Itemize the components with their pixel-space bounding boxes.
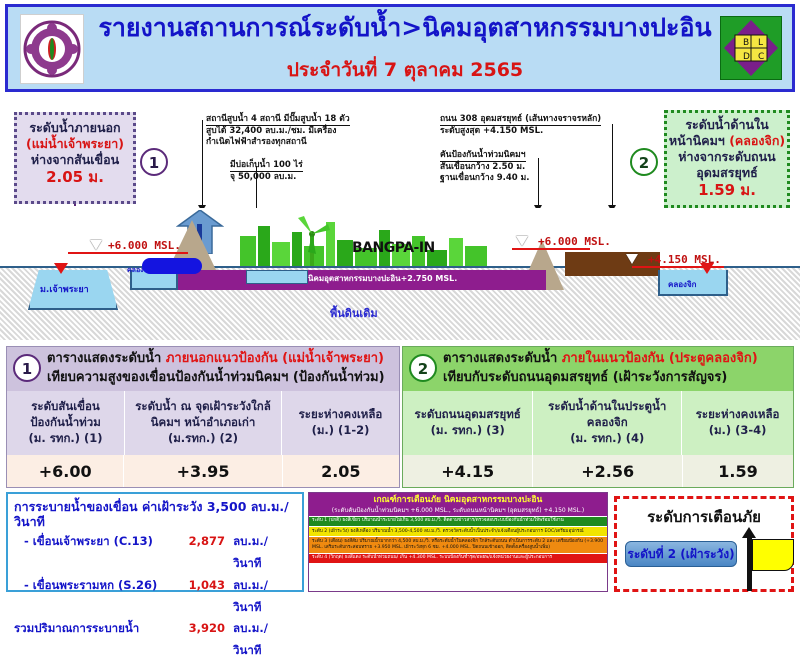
criteria-level-2-text: ปริมาณน้ำ 3,500-4,500 ลบ.ม./วิ. ตรวจวัดร… xyxy=(372,529,584,534)
discharge-row: - เขื่อนพระรามหก (S.26) 1,043 ลบ.ม./วินา… xyxy=(14,575,296,619)
dam-discharge-panel: การระบายน้ำของเขื่อน ค่าเฝ้าระวัง 3,500 … xyxy=(6,492,304,592)
svg-text:C: C xyxy=(758,52,764,62)
report-date: ประจำวันที่ 7 ตุลาคม 2565 xyxy=(80,55,730,85)
note-road-leader xyxy=(612,124,613,208)
table-right-header: 2 ตารางแสดงระดับน้ำ ภายในแนวป้องกัน (ประ… xyxy=(403,347,793,391)
callout-external-water-level: ระดับน้ำภายนอก (แม่น้ำเจ้าพระยา) ห่างจาก… xyxy=(14,112,136,204)
table-external-water-level: 1 ตารางแสดงระดับน้ำ ภายนอกแนวป้องกัน (แม… xyxy=(6,346,400,488)
report-header: รายงานสถานการณ์ระดับน้ำ>นิคมอุตสาหกรรมบา… xyxy=(5,4,795,92)
industrial-estate-authority-logo xyxy=(20,14,84,84)
table-right-col-1: ระดับน้ำด้านในประตูน้ำ คลองจิก (ม. รทก.)… xyxy=(533,391,682,455)
table-left-head-line1: ตารางแสดงระดับน้ำ ภายนอกแนวป้องกัน (แม่น… xyxy=(47,350,395,369)
alert-title: ระดับการเตือนภัย xyxy=(617,505,791,529)
bldc-logo: B L D C xyxy=(720,16,782,80)
marker-badge-1: 1 xyxy=(140,148,168,176)
table-left-head-a: ตารางแสดงระดับน้ำ xyxy=(47,351,166,366)
callout-left-line2: (แม่น้ำเจ้าพระยา) xyxy=(17,136,133,152)
callout-right-value: 1.59 ม. xyxy=(667,181,787,200)
road-308-graphic xyxy=(565,252,660,276)
discharge-total-label: รวมปริมาณการระบายน้ำ xyxy=(14,618,173,662)
note-pond-l1: มีบ่อเก็บน้ำ 100 ไร่ xyxy=(230,160,303,172)
note-road-l2: ระดับสูงสุด +4.150 MSL. xyxy=(440,126,601,137)
criteria-level-3-status: ธงสีส้ม xyxy=(344,539,358,544)
callout-right-line2a: หน้านิคมฯ xyxy=(669,133,729,148)
table-right-head-accent: ภายในแนวป้องกัน (ประตูคลองจิก) xyxy=(562,351,758,366)
table-left-header: 1 ตารางแสดงระดับน้ำ ภายนอกแนวป้องกัน (แม… xyxy=(7,347,399,391)
table-right-value-row: +4.15 +2.56 1.59 xyxy=(403,455,793,488)
river-label: ม.เจ้าพระยา xyxy=(40,282,89,296)
table-left-val-0: +6.00 xyxy=(7,455,124,488)
callout-right-line2b: (คลองจิก) xyxy=(729,133,785,148)
table-right-head-line2: เทียบกับระดับถนนอุดมสรยุทธ์ (เฝ้าระวังกา… xyxy=(443,369,789,388)
table-left-val-1: +3.95 xyxy=(124,455,282,488)
flag-pole-tip xyxy=(742,527,756,538)
discharge-row-1-unit: ลบ.ม./วินาที xyxy=(225,575,296,619)
svg-text:L: L xyxy=(758,38,763,48)
original-ground-label: พื้นดินเดิม xyxy=(330,304,378,322)
current-water-level-marker-canal xyxy=(700,263,714,274)
table-left-head-line2: เทียบความสูงของเขื่อนป้องกันน้ำท่วมนิคมฯ… xyxy=(47,369,395,388)
callout-right-line3: ห่างจากระดับถนน xyxy=(667,149,787,165)
marker-badge-2: 2 xyxy=(630,148,658,176)
water-surface-marker-left xyxy=(90,240,102,250)
criteria-level-2: ระดับ 2 (เฝ้าระวัง) ธงสีเหลือง ปริมาณน้ำ… xyxy=(309,526,607,536)
note-retention-pond: มีบ่อเก็บน้ำ 100 ไร่ จุ 50,000 ลบ.ม. xyxy=(230,160,303,183)
svg-text:B: B xyxy=(743,38,749,48)
discharge-total-row: รวมปริมาณการระบายน้ำ 3,920 ลบ.ม./วินาที xyxy=(14,618,296,662)
table-left-column-headers: ระดับสันเขื่อน ป้องกันน้ำท่วม (ม. รทก.) … xyxy=(7,391,399,455)
criteria-level-3-name: ระดับ 3 (เตือน) xyxy=(312,539,343,544)
table-right-val-0: +4.15 xyxy=(403,455,533,488)
culvert-pipe-graphic xyxy=(142,258,202,274)
water-surface-marker-mid xyxy=(516,236,528,246)
discharge-row-0-label: - เขื่อนเจ้าพระยา (C.13) xyxy=(14,531,173,575)
criteria-level-1-name: ระดับ 1 (ปกติ) xyxy=(312,518,341,523)
callout-left-value: 2.05 ม. xyxy=(17,168,133,187)
table-right-column-headers: ระดับถนนอุดมสรยุทธ์ (ม. รทก.) (3) ระดับน… xyxy=(403,391,793,455)
table-right-col-2: ระยะห่างคงเหลือ (ม.) (3-4) xyxy=(682,391,793,455)
estate-brand-label: BANGPA-IN xyxy=(352,240,435,256)
discharge-row-1-value: 1,043 xyxy=(173,575,225,619)
note-dike-l2: สันเขื่อนกว้าง 2.50 ม. xyxy=(440,162,529,173)
alert-level-chip: ระดับที่ 2 (เฝ้าระวัง) xyxy=(625,541,737,567)
current-water-level-marker-river xyxy=(54,263,68,274)
table-left-value-row: +6.00 +3.95 2.05 xyxy=(7,455,399,488)
note-pump-l3: กำเนิดไฟฟ้าสำรองทุกสถานี xyxy=(206,137,350,148)
note-dike-l1: คันป้องกันน้ำท่วมนิคมฯ xyxy=(440,150,526,162)
discharge-row: - เขื่อนเจ้าพระยา (C.13) 2,877 ลบ.ม./วิน… xyxy=(14,531,296,575)
criteria-subtitle: (ระดับคันป้องกันน้ำท่วมนิคมฯ +6.000 MSL.… xyxy=(309,506,607,516)
msl-line-left xyxy=(68,252,188,254)
discharge-row-0-unit: ลบ.ม./วินาที xyxy=(225,531,296,575)
note-pump-l1: สถานีสูบน้ำ 4 สถานี มีปั๊มสูบน้ำ 18 ตัว xyxy=(206,114,350,126)
note-pond-l2: จุ 50,000 ลบ.ม. xyxy=(230,172,303,183)
callout-right-line2: หน้านิคมฯ (คลองจิก) xyxy=(667,133,787,149)
criteria-level-4-status: ธงสีแดง xyxy=(345,555,361,560)
table-left-col-2: ระยะห่างคงเหลือ (ม.) (1-2) xyxy=(282,391,399,455)
page-title: รายงานสถานการณ์ระดับน้ำ>นิคมอุตสาหกรรมบา… xyxy=(80,14,730,42)
note-dike-l3: ฐานเขื่อนกว้าง 9.40 ม. xyxy=(440,173,529,184)
svg-text:D: D xyxy=(743,52,750,62)
note-road-308: ถนน 308 อุดมสรยุทธ์ (เส้นทางจราจรหลัก) ร… xyxy=(440,114,601,137)
wind-turbine-icon xyxy=(292,214,332,270)
note-pump-leader xyxy=(202,120,203,208)
estate-elevation-label: พื้นที่นิคมอุตสาหกรรมบางปะอิน+2.750 MSL. xyxy=(292,272,457,285)
criteria-title: เกณฑ์การเตือนภัย นิคมอุตสาหกรรมบางปะอิน xyxy=(309,493,607,506)
jik-canal-label: คลองจิก xyxy=(668,278,697,291)
table-left-badge: 1 xyxy=(13,354,41,382)
note-road-l1: ถนน 308 อุดมสรยุทธ์ (เส้นทางจราจรหลัก) xyxy=(440,114,601,126)
note-pond-leader xyxy=(256,166,257,208)
current-alert-level-panel: ระดับการเตือนภัย ระดับที่ 2 (เฝ้าระวัง) xyxy=(614,496,794,592)
table-right-head-a: ตารางแสดงระดับน้ำ xyxy=(443,351,562,366)
criteria-level-1-text: ปริมาณน้ำระบายไม่เกิน 3,500 ลบ.ม./วิ. ติ… xyxy=(362,518,564,523)
table-right-head-line1: ตารางแสดงระดับน้ำ ภายในแนวป้องกัน (ประตู… xyxy=(443,350,789,369)
table-internal-water-level: 2 ตารางแสดงระดับน้ำ ภายในแนวป้องกัน (ประ… xyxy=(402,346,794,488)
criteria-level-4: ระดับ 4 (วิกฤต) ธงสีแดง ระดับน้ำท่วมถนน/… xyxy=(309,553,607,563)
cross-section-diagram: BANGPA-IN พื้นที่นิคมอุตสาหกรรมบางปะอิน+… xyxy=(0,208,800,340)
retention-pond-graphic xyxy=(246,270,308,284)
table-left-head-accent: ภายนอกแนวป้องกัน (แม่น้ำเจ้าพระยา) xyxy=(166,351,384,366)
discharge-total-value: 3,920 xyxy=(173,618,225,662)
criteria-level-3: ระดับ 3 (เตือน) ธงสีส้ม ปริมาณน้ำมากกว่า… xyxy=(309,536,607,552)
table-right-badge: 2 xyxy=(409,354,437,382)
callout-left-line3: ห่างจากสันเขื่อน xyxy=(17,152,133,168)
discharge-row-1-label: - เขื่อนพระรามหก (S.26) xyxy=(14,575,173,619)
criteria-level-4-name: ระดับ 4 (วิกฤต) xyxy=(312,555,343,560)
discharge-title: การระบายน้ำของเขื่อน ค่าเฝ้าระวัง 3,500 … xyxy=(14,499,296,529)
discharge-row-0-value: 2,877 xyxy=(173,531,225,575)
water-surface-marker-right xyxy=(626,254,638,264)
callout-right-line4: อุดมสรยุทธ์ xyxy=(667,165,787,181)
msl-label-mid: +6.000 MSL. xyxy=(538,235,611,248)
criteria-level-2-name: ระดับ 2 (เฝ้าระวัง) xyxy=(312,529,349,534)
table-right-val-2: 1.59 xyxy=(683,455,793,488)
water-level-report-page: รายงานสถานการณ์ระดับน้ำ>นิคมอุตสาหกรรมบา… xyxy=(0,0,800,600)
discharge-total-unit: ลบ.ม./วินาที xyxy=(225,618,296,662)
callout-internal-water-level: ระดับน้ำด้านใน หน้านิคมฯ (คลองจิก) ห่างจ… xyxy=(664,110,790,208)
note-pump-l2: สูบได้ 32,400 ลบ.ม./ชม. มีเครื่อง xyxy=(206,126,350,137)
table-right-col-0: ระดับถนนอุดมสรยุทธ์ (ม. รทก.) (3) xyxy=(403,391,533,455)
note-dike-leader xyxy=(538,158,539,208)
yellow-warning-flag-icon xyxy=(752,539,794,571)
table-left-val-2: 2.05 xyxy=(283,455,399,488)
table-left-col-1: ระดับน้ำ ณ จุดเฝ้าระวังใกล้ นิคมฯ หน้าอำ… xyxy=(125,391,282,455)
criteria-level-2-status: ธงสีเหลือง xyxy=(350,529,370,534)
table-right-val-1: +2.56 xyxy=(533,455,683,488)
msl-label-left: +6.000 MSL. xyxy=(108,239,181,252)
criteria-level-4-text: ระดับน้ำท่วมถนน/ เกิน +4.300 MSL. ระบบป้… xyxy=(362,555,552,560)
callout-left-line1: ระดับน้ำภายนอก xyxy=(17,120,133,136)
criteria-level-1: ระดับ 1 (ปกติ) ธงสีเขียว ปริมาณน้ำระบายไ… xyxy=(309,516,607,526)
msl-line-mid xyxy=(512,248,590,250)
note-pump-station: สถานีสูบน้ำ 4 สถานี มีปั๊มสูบน้ำ 18 ตัว … xyxy=(206,114,350,149)
criteria-level-1-status: ธงสีเขียว xyxy=(342,518,360,523)
note-flood-dike: คันป้องกันน้ำท่วมนิคมฯ สันเขื่อนกว้าง 2.… xyxy=(440,150,529,185)
callout-right-line1: ระดับน้ำด้านใน xyxy=(667,117,787,133)
alert-criteria-panel: เกณฑ์การเตือนภัย นิคมอุตสาหกรรมบางปะอิน … xyxy=(308,492,608,592)
table-left-col-0: ระดับสันเขื่อน ป้องกันน้ำท่วม (ม. รทก.) … xyxy=(7,391,125,455)
